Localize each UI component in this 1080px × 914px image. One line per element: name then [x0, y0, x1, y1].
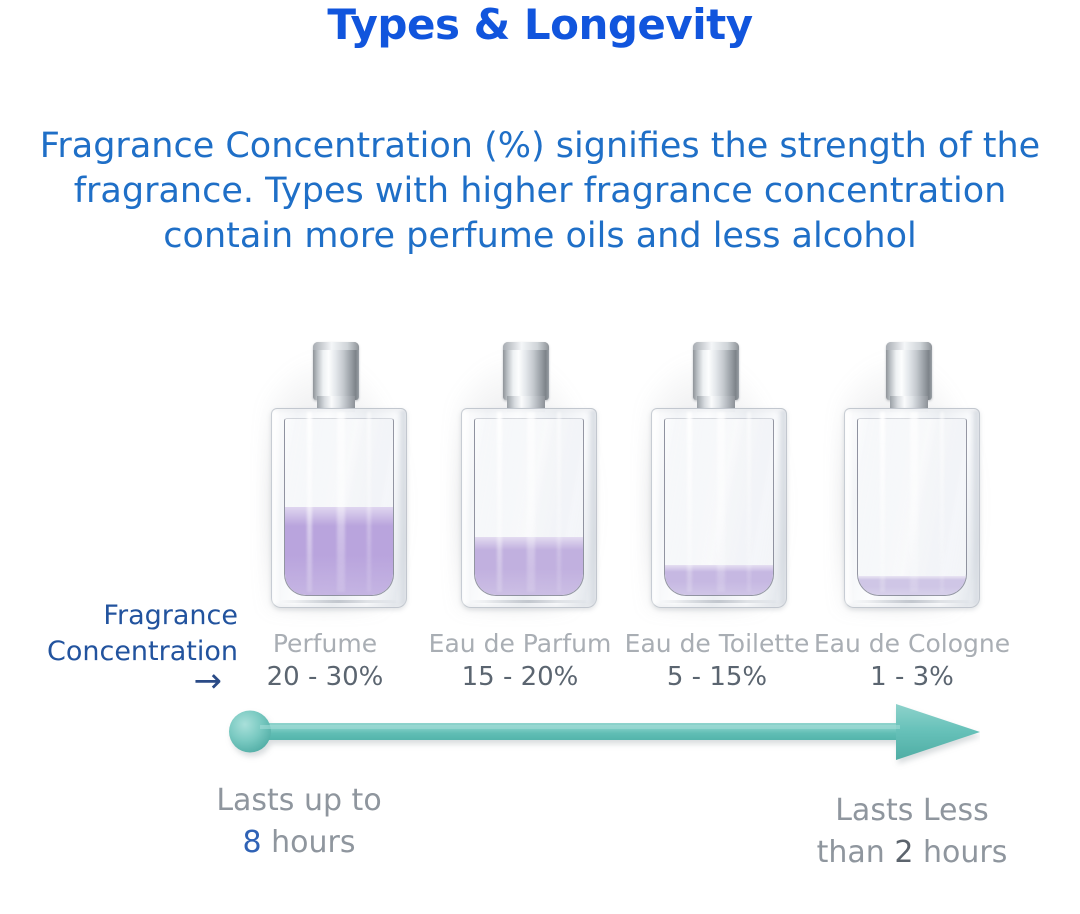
- bottle-glass: [271, 408, 407, 608]
- longevity-right-number: 2: [894, 835, 913, 870]
- longevity-right-line-2: than 2 hours: [747, 832, 1077, 874]
- bottle-cap-icon: [503, 342, 549, 400]
- right-arrow-icon: →: [0, 664, 238, 698]
- longevity-texts: Lasts up to 8 hours Lasts Less than 2 ho…: [0, 780, 1080, 890]
- product-name-1: Eau de Parfum: [405, 628, 635, 660]
- perfume-bottle-2: [625, 330, 815, 630]
- fragrance-concentration-label: Fragrance Concentration: [0, 598, 238, 670]
- infographic-page: { "title": "Types & Longevity", "subtitl…: [0, 0, 1080, 914]
- longevity-left: Lasts up to 8 hours: [134, 780, 464, 864]
- longevity-right-prefix: than: [817, 835, 895, 870]
- longevity-right-unit: hours: [913, 835, 1007, 870]
- bottle-cap-icon: [693, 342, 739, 400]
- subtitle-line-1: Fragrance Concentration (%) signifies th…: [20, 124, 1060, 169]
- product-concentration-1: 15 - 20%: [405, 660, 635, 694]
- subtitle-line-3: contain more perfume oils and less alcoh…: [20, 214, 1060, 259]
- perfume-bottle-3: [818, 330, 1008, 630]
- longevity-right-line-1: Lasts Less: [747, 790, 1077, 832]
- caption-3: Eau de Cologne 1 - 3%: [797, 628, 1027, 694]
- longevity-left-line-1: Lasts up to: [134, 780, 464, 822]
- bottle-cap-icon: [313, 342, 359, 400]
- longevity-arrow-icon: [220, 700, 980, 770]
- bottle-cap-icon: [886, 342, 932, 400]
- bottle-glass: [651, 408, 787, 608]
- longevity-left-line-2: 8 hours: [134, 822, 464, 864]
- subtitle-line-2: fragrance. Types with higher fragrance c…: [20, 169, 1060, 214]
- page-title: Types & Longevity: [0, 0, 1080, 49]
- perfume-bottle-0: [245, 330, 435, 630]
- longevity-right: Lasts Less than 2 hours: [747, 790, 1077, 874]
- perfume-bottle-1: [435, 330, 625, 630]
- longevity-left-unit: hours: [262, 825, 356, 860]
- product-name-3: Eau de Cologne: [797, 628, 1027, 660]
- subtitle-text: Fragrance Concentration (%) signifies th…: [20, 124, 1060, 259]
- axis-label-line-1: Fragrance: [0, 598, 238, 634]
- bottle-glass: [844, 408, 980, 608]
- product-concentration-3: 1 - 3%: [797, 660, 1027, 694]
- longevity-left-number: 8: [243, 825, 262, 860]
- caption-1: Eau de Parfum 15 - 20%: [405, 628, 635, 694]
- perfume-bottle-row: [0, 330, 1080, 630]
- bottle-glass: [461, 408, 597, 608]
